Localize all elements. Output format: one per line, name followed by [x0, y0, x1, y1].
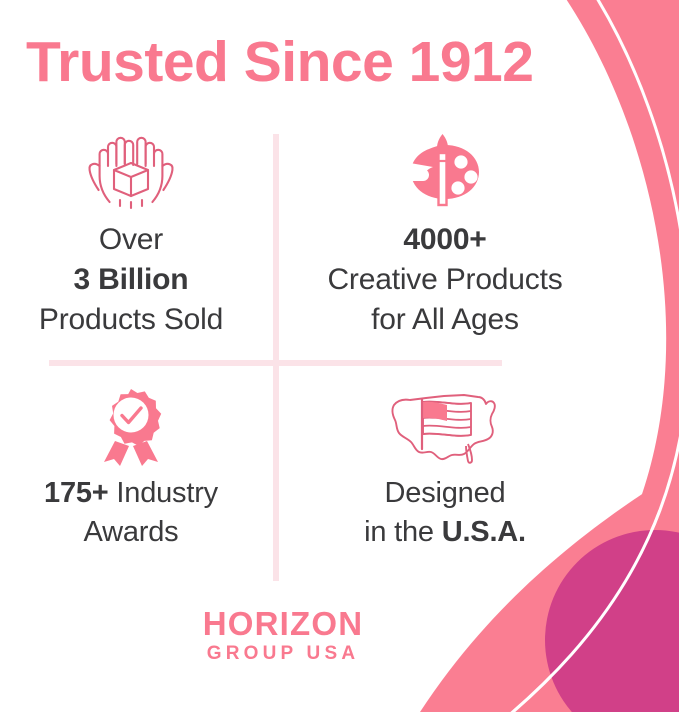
stat-line-bold: 4000+	[403, 223, 486, 256]
stat-line: Over	[39, 220, 223, 260]
stat-line: Creative Products	[327, 260, 562, 300]
brand-logo: HORIZON GROUP USA	[0, 607, 566, 663]
page-title: Trusted Since 1912	[26, 33, 566, 93]
divider-vertical	[273, 134, 279, 581]
stat-line: for All Ages	[327, 300, 562, 340]
stat-line: Products Sold	[39, 300, 223, 340]
stat-block-creative-products: 4000+ Creative Products for All Ages	[290, 130, 600, 340]
stat-line: Designed	[364, 474, 526, 513]
award-ribbon-check-icon	[88, 388, 174, 466]
stat-line-bold: U.S.A.	[442, 516, 526, 548]
stat-line: in the	[364, 516, 442, 548]
white-hairline	[452, 0, 679, 712]
stat-line-bold: 175+	[44, 477, 109, 509]
stat-text-products-sold: Over 3 Billion Products Sold	[39, 220, 223, 340]
paint-palette-brush-icon	[395, 130, 495, 212]
stat-text-designed-usa: Designed in the U.S.A.	[364, 474, 526, 551]
stat-block-designed-usa: Designed in the U.S.A.	[290, 388, 600, 551]
stat-block-industry-awards: 175+ Industry Awards	[0, 388, 262, 551]
logo-wordmark: HORIZON	[0, 607, 566, 640]
usa-map-flag-icon	[382, 388, 508, 466]
infographic-canvas: Trusted Since 1912	[0, 0, 679, 712]
stat-text-creative-products: 4000+ Creative Products for All Ages	[327, 220, 562, 340]
stat-line-bold: 3 Billion	[74, 263, 189, 296]
ribbon-left	[104, 441, 129, 466]
logo-tagline: GROUP USA	[0, 644, 566, 663]
stat-line: Industry	[109, 477, 218, 509]
stat-text-industry-awards: 175+ Industry Awards	[44, 474, 218, 551]
brush-tip	[437, 134, 448, 151]
hands-holding-box-icon	[76, 130, 186, 212]
stat-block-products-sold: Over 3 Billion Products Sold	[0, 130, 262, 340]
stat-line: Awards	[44, 513, 218, 552]
pink-swoosh-shape	[430, 0, 679, 712]
